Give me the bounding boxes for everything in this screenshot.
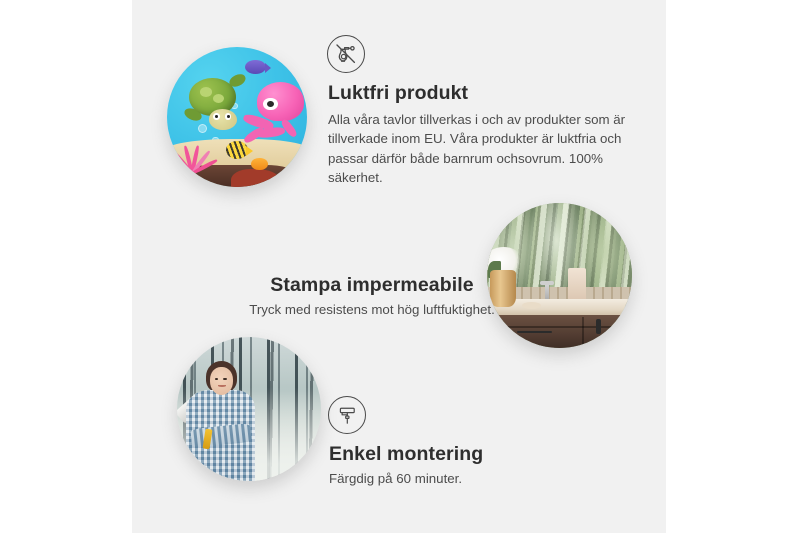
paint-roller-icon (328, 396, 366, 434)
painter-photo (177, 337, 321, 481)
gold-vase (490, 270, 516, 308)
turtle-head (209, 109, 237, 130)
orange-fish (251, 158, 268, 171)
painter-face (210, 367, 233, 394)
soap-dish (522, 302, 541, 309)
ocean-photo (167, 47, 307, 187)
feature-title: Luktfri produkt (328, 82, 637, 105)
feature-description: Alla våra tavlor tillverkas i och av pro… (328, 110, 637, 188)
yellow-striped-fish (226, 141, 248, 159)
feature-odor-free: Luktfri produkt Alla våra tavlor tillver… (327, 35, 637, 188)
wooden-vanity (490, 315, 632, 348)
cabinet-handle (596, 319, 600, 334)
feature-easy-mounting: Enkel montering Färgdig på 60 minuter. (328, 396, 628, 488)
ocean-rock-red (231, 169, 279, 187)
screenshot-stage: Luktfri produkt Alla våra tavlor tillver… (0, 0, 800, 533)
feature-description: Färgdig på 60 minuter. (329, 469, 628, 488)
product-features-panel: Luktfri produkt Alla våra tavlor tillver… (132, 0, 666, 533)
coral-plant (173, 137, 215, 173)
drawer-handle (517, 331, 552, 332)
bubble-icon (198, 124, 207, 133)
no-odor-spray-icon (327, 35, 365, 73)
feature-title: Enkel montering (329, 443, 628, 466)
bathroom-photo (487, 203, 632, 348)
purple-fish (245, 60, 266, 74)
octopus-head (257, 82, 305, 121)
